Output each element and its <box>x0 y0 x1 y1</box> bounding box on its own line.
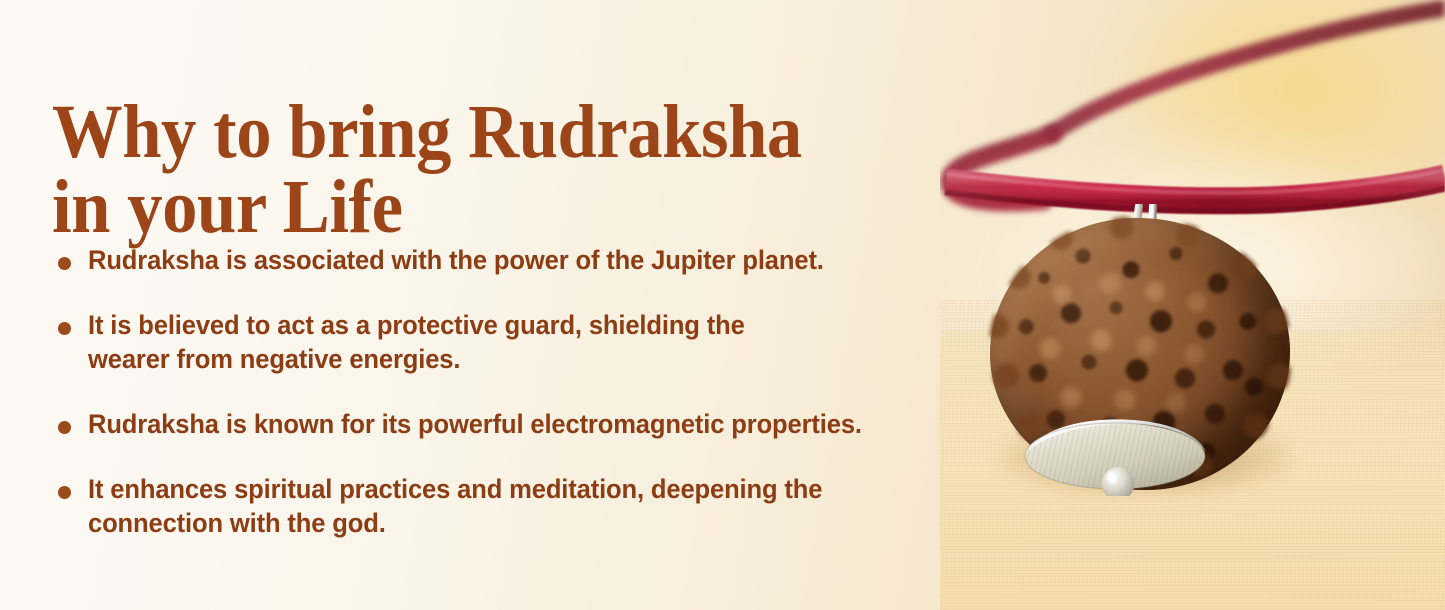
list-item-label: Rudraksha is associated with the power o… <box>88 243 970 277</box>
headline-line-1: Why to bring Rudraksha <box>52 95 889 170</box>
bullet-dot-icon <box>58 322 71 335</box>
list-item-label: Rudraksha is known for its powerful elec… <box>88 407 970 441</box>
page-title: Why to bring Rudraksha in your Life <box>52 95 889 245</box>
list-item-label: It is believed to act as a protective gu… <box>88 308 970 376</box>
list-item-label: It enhances spiritual practices and medi… <box>88 472 970 540</box>
benefits-list: Rudraksha is associated with the power o… <box>52 243 1002 540</box>
list-item: It enhances spiritual practices and medi… <box>52 472 1002 540</box>
rudraksha-bead-assembly <box>978 200 1308 510</box>
bullet-dot-icon <box>58 257 71 270</box>
bullet-dot-icon <box>58 421 71 434</box>
list-item: Rudraksha is associated with the power o… <box>52 243 1002 277</box>
rudraksha-product-photo <box>940 0 1445 610</box>
rudraksha-promo-banner: Why to bring Rudraksha in your Life Rudr… <box>0 0 1445 610</box>
bullet-dot-icon <box>58 486 71 499</box>
list-item: Rudraksha is known for its powerful elec… <box>52 407 1002 441</box>
silver-cap-icon <box>1022 410 1208 496</box>
headline-line-2: in your Life <box>52 170 889 245</box>
list-item: It is believed to act as a protective gu… <box>52 308 1002 376</box>
banner-text-column: Why to bring Rudraksha in your Life Rudr… <box>0 0 1000 610</box>
